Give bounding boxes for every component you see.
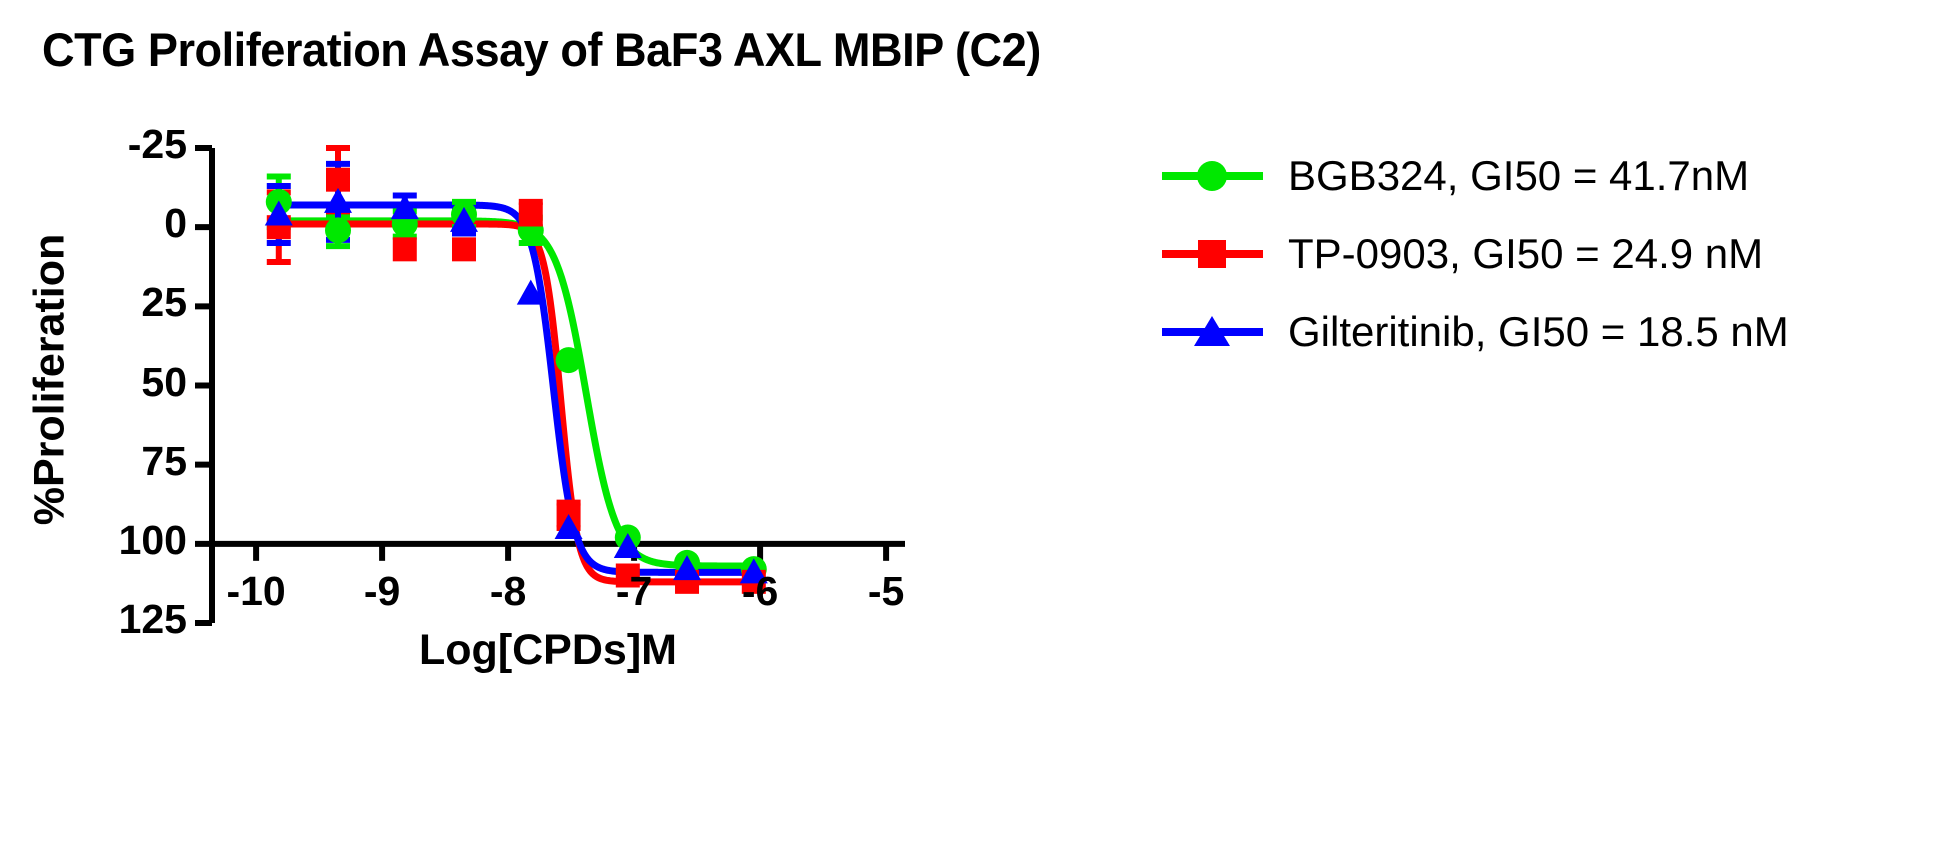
legend-label: TP-0903, GI50 = 24.9 nM [1288,228,1763,280]
x-tick-label: -5 [826,568,946,615]
legend-label: BGB324, GI50 = 41.7nM [1288,150,1749,202]
x-tick-label: -7 [574,568,694,615]
data-point-square [452,237,476,261]
data-point-square [393,237,417,261]
legend-key-square-icon [1160,226,1265,282]
x-tick-label: -10 [196,568,316,615]
y-tick-label: -25 [37,121,187,168]
chart-page: CTG Proliferation Assay of BaF3 AXL MBIP… [0,0,1940,855]
legend-marker-svg [1160,226,1265,282]
legend-label: Gilteritinib, GI50 = 18.5 nM [1288,306,1789,358]
legend-key-circle-icon [1160,148,1265,204]
curve-tp-0903 [279,224,754,582]
data-point-circle [556,347,582,373]
y-tick-label: 125 [37,596,187,643]
x-tick-label: -9 [322,568,442,615]
x-tick-label: -8 [448,568,568,615]
x-tick-label: -6 [700,568,820,615]
y-axis-title: %Proliferation [26,170,75,590]
plot-area: 1251007550250-25-10-9-8-7-6-5Log[CPDs]M%… [0,0,1000,700]
curve-gilteritinib [279,205,754,572]
data-point-square [519,203,543,227]
curve-bgb324 [279,221,754,566]
legend-key-triangle-icon [1160,304,1265,360]
x-axis-title: Log[CPDs]M [419,626,677,675]
data-point-circle [325,217,351,243]
legend-circle-icon [1197,161,1227,191]
legend-marker-svg [1160,148,1265,204]
legend-square-icon [1198,240,1226,268]
legend-marker-svg [1160,304,1265,360]
